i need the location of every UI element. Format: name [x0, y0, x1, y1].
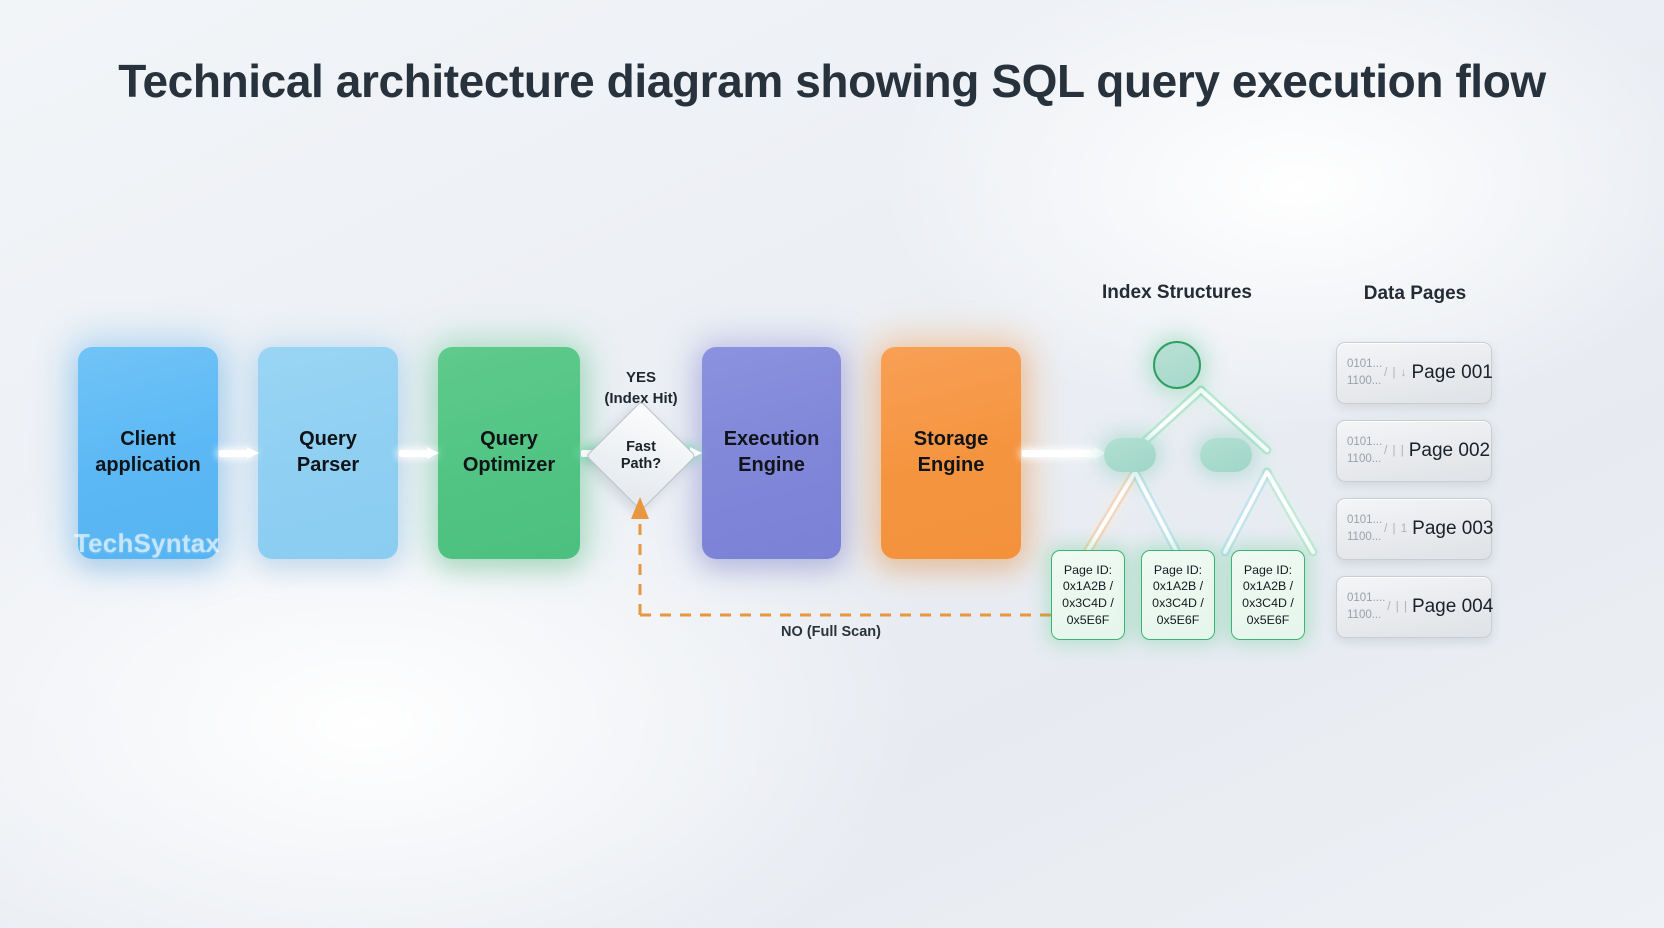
index-leaf-node[interactable]: Page ID: 0x1A2B / 0x3C4D / 0x5E6F	[1231, 550, 1305, 640]
page-card-name: Page 003	[1412, 518, 1493, 540]
page-card-bits: 0101... 1100...	[1347, 356, 1382, 391]
page-card-bits-top: 0101....	[1347, 590, 1385, 607]
page-card-glyph-icon: / | |	[1384, 445, 1405, 457]
page-card-name: Page 002	[1409, 440, 1490, 462]
page-card-glyph-icon: / | 1	[1384, 523, 1408, 535]
index-leaf-node[interactable]: Page ID: 0x1A2B / 0x3C4D / 0x5E6F	[1141, 550, 1215, 640]
page-card-name: Page 001	[1412, 362, 1493, 384]
flow-node-label: Storage Engine	[914, 427, 988, 478]
index-tree-internal-node[interactable]	[1200, 438, 1252, 472]
page-card-glyph-icon: / | |	[1387, 601, 1408, 613]
page-card-bits-top: 0101...	[1347, 356, 1382, 373]
flow-node-query-optimizer[interactable]: Query Optimizer	[438, 347, 580, 559]
page-card-bits-bottom: 1100...	[1347, 451, 1382, 468]
page-card-name: Page 004	[1412, 596, 1493, 618]
page-card-bits: 0101... 1100...	[1347, 434, 1382, 469]
arrow-right-icon	[219, 447, 259, 459]
data-page-card[interactable]: 0101... 1100... / | ↓ Page 001	[1336, 342, 1492, 404]
page-title: Technical architecture diagram showing S…	[0, 54, 1664, 108]
index-tree-root-node[interactable]	[1153, 341, 1201, 389]
flow-node-label: Query Optimizer	[463, 427, 555, 478]
page-card-bits-bottom: 1100...	[1347, 529, 1382, 546]
page-card-bits-bottom: 1100...	[1347, 607, 1385, 624]
page-card-bits: 0101.... 1100...	[1347, 590, 1385, 625]
page-card-bits-top: 0101...	[1347, 512, 1382, 529]
flow-node-storage-engine[interactable]: Storage Engine	[881, 347, 1021, 559]
index-tree-internal-node[interactable]	[1104, 438, 1156, 472]
flow-node-label: Client application	[95, 427, 201, 478]
flow-node-label: Query Parser	[297, 427, 359, 478]
arrow-right-icon	[399, 447, 439, 459]
section-heading-index-structures: Index Structures	[1070, 282, 1284, 304]
flow-node-query-parser[interactable]: Query Parser	[258, 347, 398, 559]
flow-node-execution-engine[interactable]: Execution Engine	[702, 347, 841, 559]
page-card-bits: 0101... 1100...	[1347, 512, 1382, 547]
index-leaf-node[interactable]: Page ID: 0x1A2B / 0x3C4D / 0x5E6F	[1051, 550, 1125, 640]
decision-fast-path[interactable]: Fast Path?	[602, 417, 680, 495]
decision-label: Fast Path?	[602, 417, 680, 495]
diagram-canvas: Technical architecture diagram showing S…	[0, 0, 1664, 928]
section-heading-data-pages: Data Pages	[1330, 283, 1500, 305]
data-page-card[interactable]: 0101... 1100... / | 1 Page 003	[1336, 498, 1492, 560]
flow-node-label: Execution Engine	[724, 427, 820, 478]
page-card-bits-bottom: 1100...	[1347, 373, 1382, 390]
data-page-card[interactable]: 0101.... 1100... / | | Page 004	[1336, 576, 1492, 638]
data-page-card[interactable]: 0101... 1100... / | | Page 002	[1336, 420, 1492, 482]
decision-no-label: NO (Full Scan)	[735, 624, 927, 640]
page-card-bits-top: 0101...	[1347, 434, 1382, 451]
flow-node-client-application[interactable]: Client application	[78, 347, 218, 559]
page-card-glyph-icon: / | ↓	[1384, 367, 1407, 379]
